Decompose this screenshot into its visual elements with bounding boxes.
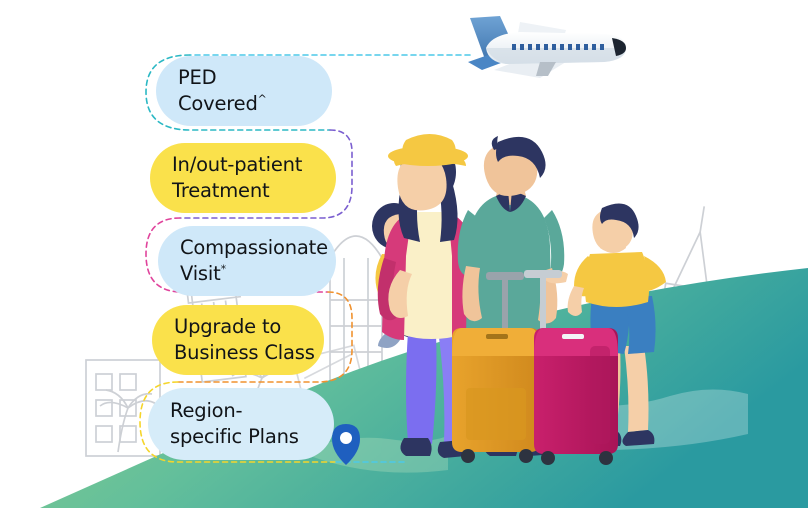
illustration-canvas: PED Covered^ In/out-patient Treatment Co… (0, 0, 808, 508)
airplane-icon (468, 16, 626, 78)
foreground-art-layer (0, 0, 808, 508)
map-pin-icon (332, 424, 360, 465)
